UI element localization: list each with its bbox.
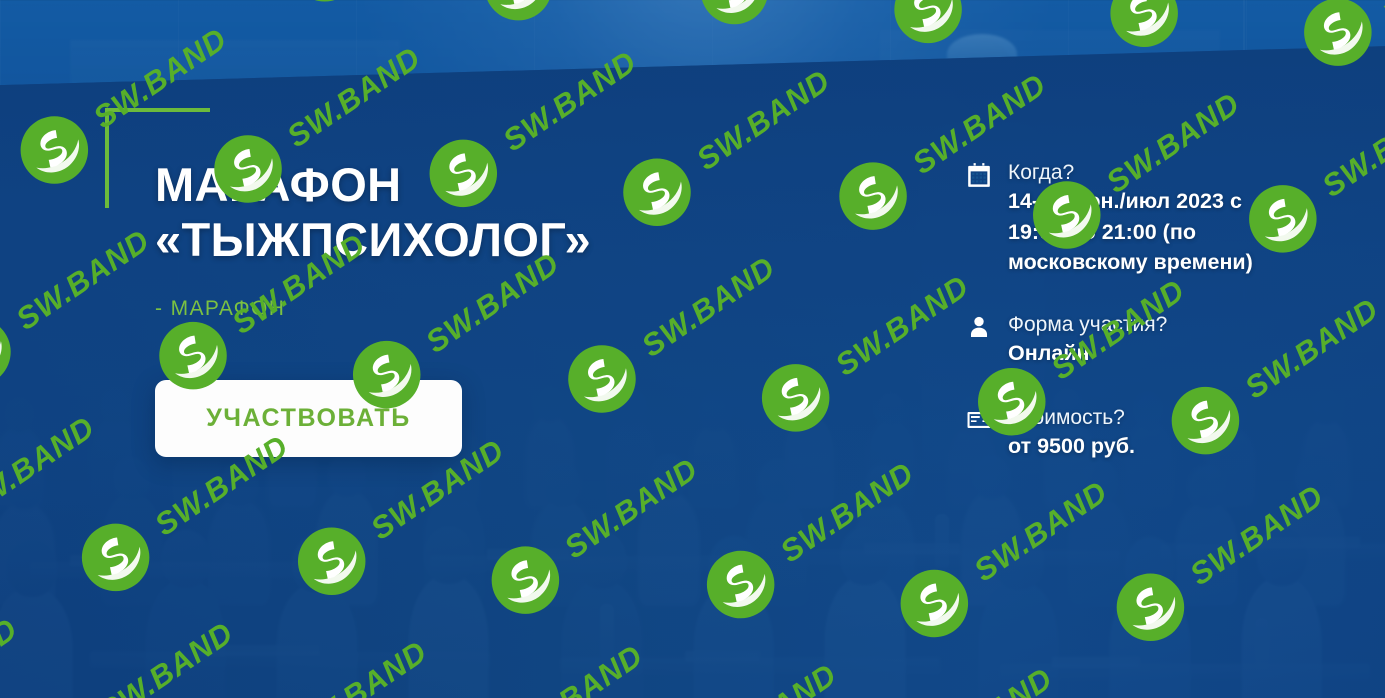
credit-card-icon — [966, 407, 992, 433]
event-info-list: Когда? 14-12 июн./июл 2023 с 19:00 до 21… — [966, 160, 1296, 489]
info-question-format: Форма участия? — [1008, 312, 1296, 338]
info-question-when: Когда? — [1008, 160, 1296, 186]
info-item-format: Форма участия? Онлайн — [966, 312, 1296, 369]
participate-button[interactable]: УЧАСТВОВАТЬ — [155, 380, 462, 457]
info-answer-when: 14-12 июн./июл 2023 с 19:00 до 21:00 (по… — [1008, 186, 1296, 278]
page-title: МАРАФОН «ТЫЖПСИХОЛОГ» — [155, 158, 855, 267]
info-answer-price: от 9500 руб. — [1008, 431, 1296, 462]
hero-subtitle: - МАРАФОН — [155, 297, 285, 321]
user-icon — [966, 314, 992, 340]
hero-content: МАРАФОН «ТЫЖПСИХОЛОГ» - МАРАФОН УЧАСТВОВ… — [0, 0, 1385, 698]
info-answer-format: Онлайн — [1008, 338, 1296, 369]
info-item-price: Стоимость? от 9500 руб. — [966, 405, 1296, 462]
headline-line-1: МАРАФОН — [155, 158, 402, 211]
info-item-when: Когда? 14-12 июн./июл 2023 с 19:00 до 21… — [966, 160, 1296, 278]
headline-line-2: «ТЫЖПСИХОЛОГ» — [155, 213, 855, 268]
calendar-icon — [966, 162, 992, 188]
info-question-price: Стоимость? — [1008, 405, 1296, 431]
hero-banner: МАРАФОН «ТЫЖПСИХОЛОГ» - МАРАФОН УЧАСТВОВ… — [0, 0, 1385, 698]
